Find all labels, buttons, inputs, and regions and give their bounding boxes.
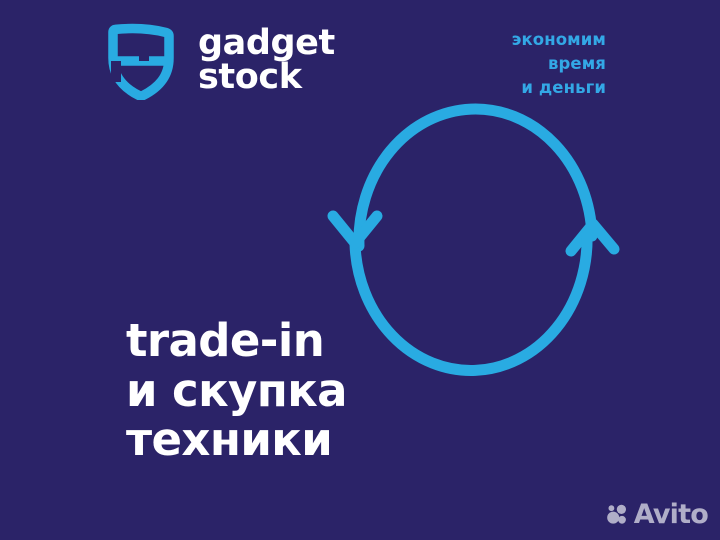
brand-name-line-1: gadget — [198, 27, 335, 61]
avito-dots-icon — [607, 504, 629, 526]
circular-exchange-arrows-icon — [322, 96, 622, 376]
promo-banner: gadget stock экономим время и деньги tra… — [0, 0, 720, 540]
shield-logo-icon — [104, 20, 182, 100]
brand-lockup: gadget stock — [104, 20, 335, 100]
headline-line-1: trade-in — [126, 316, 347, 366]
arrow-up-icon — [359, 109, 614, 251]
brand-wordmark: gadget stock — [198, 25, 335, 94]
headline-line-3: техники — [126, 415, 347, 465]
brand-name-line-2: stock — [198, 61, 335, 95]
headline-line-2: и скупка — [126, 366, 347, 416]
tagline: экономим время и деньги — [512, 28, 606, 100]
page-title: trade-in и скупка техники — [126, 316, 347, 465]
tagline-line-1: экономим — [512, 28, 606, 52]
tagline-line-2: время — [512, 52, 606, 76]
avito-watermark: Avito — [607, 501, 708, 528]
avito-wordmark: Avito — [634, 501, 708, 528]
arrow-down-icon — [333, 216, 587, 370]
